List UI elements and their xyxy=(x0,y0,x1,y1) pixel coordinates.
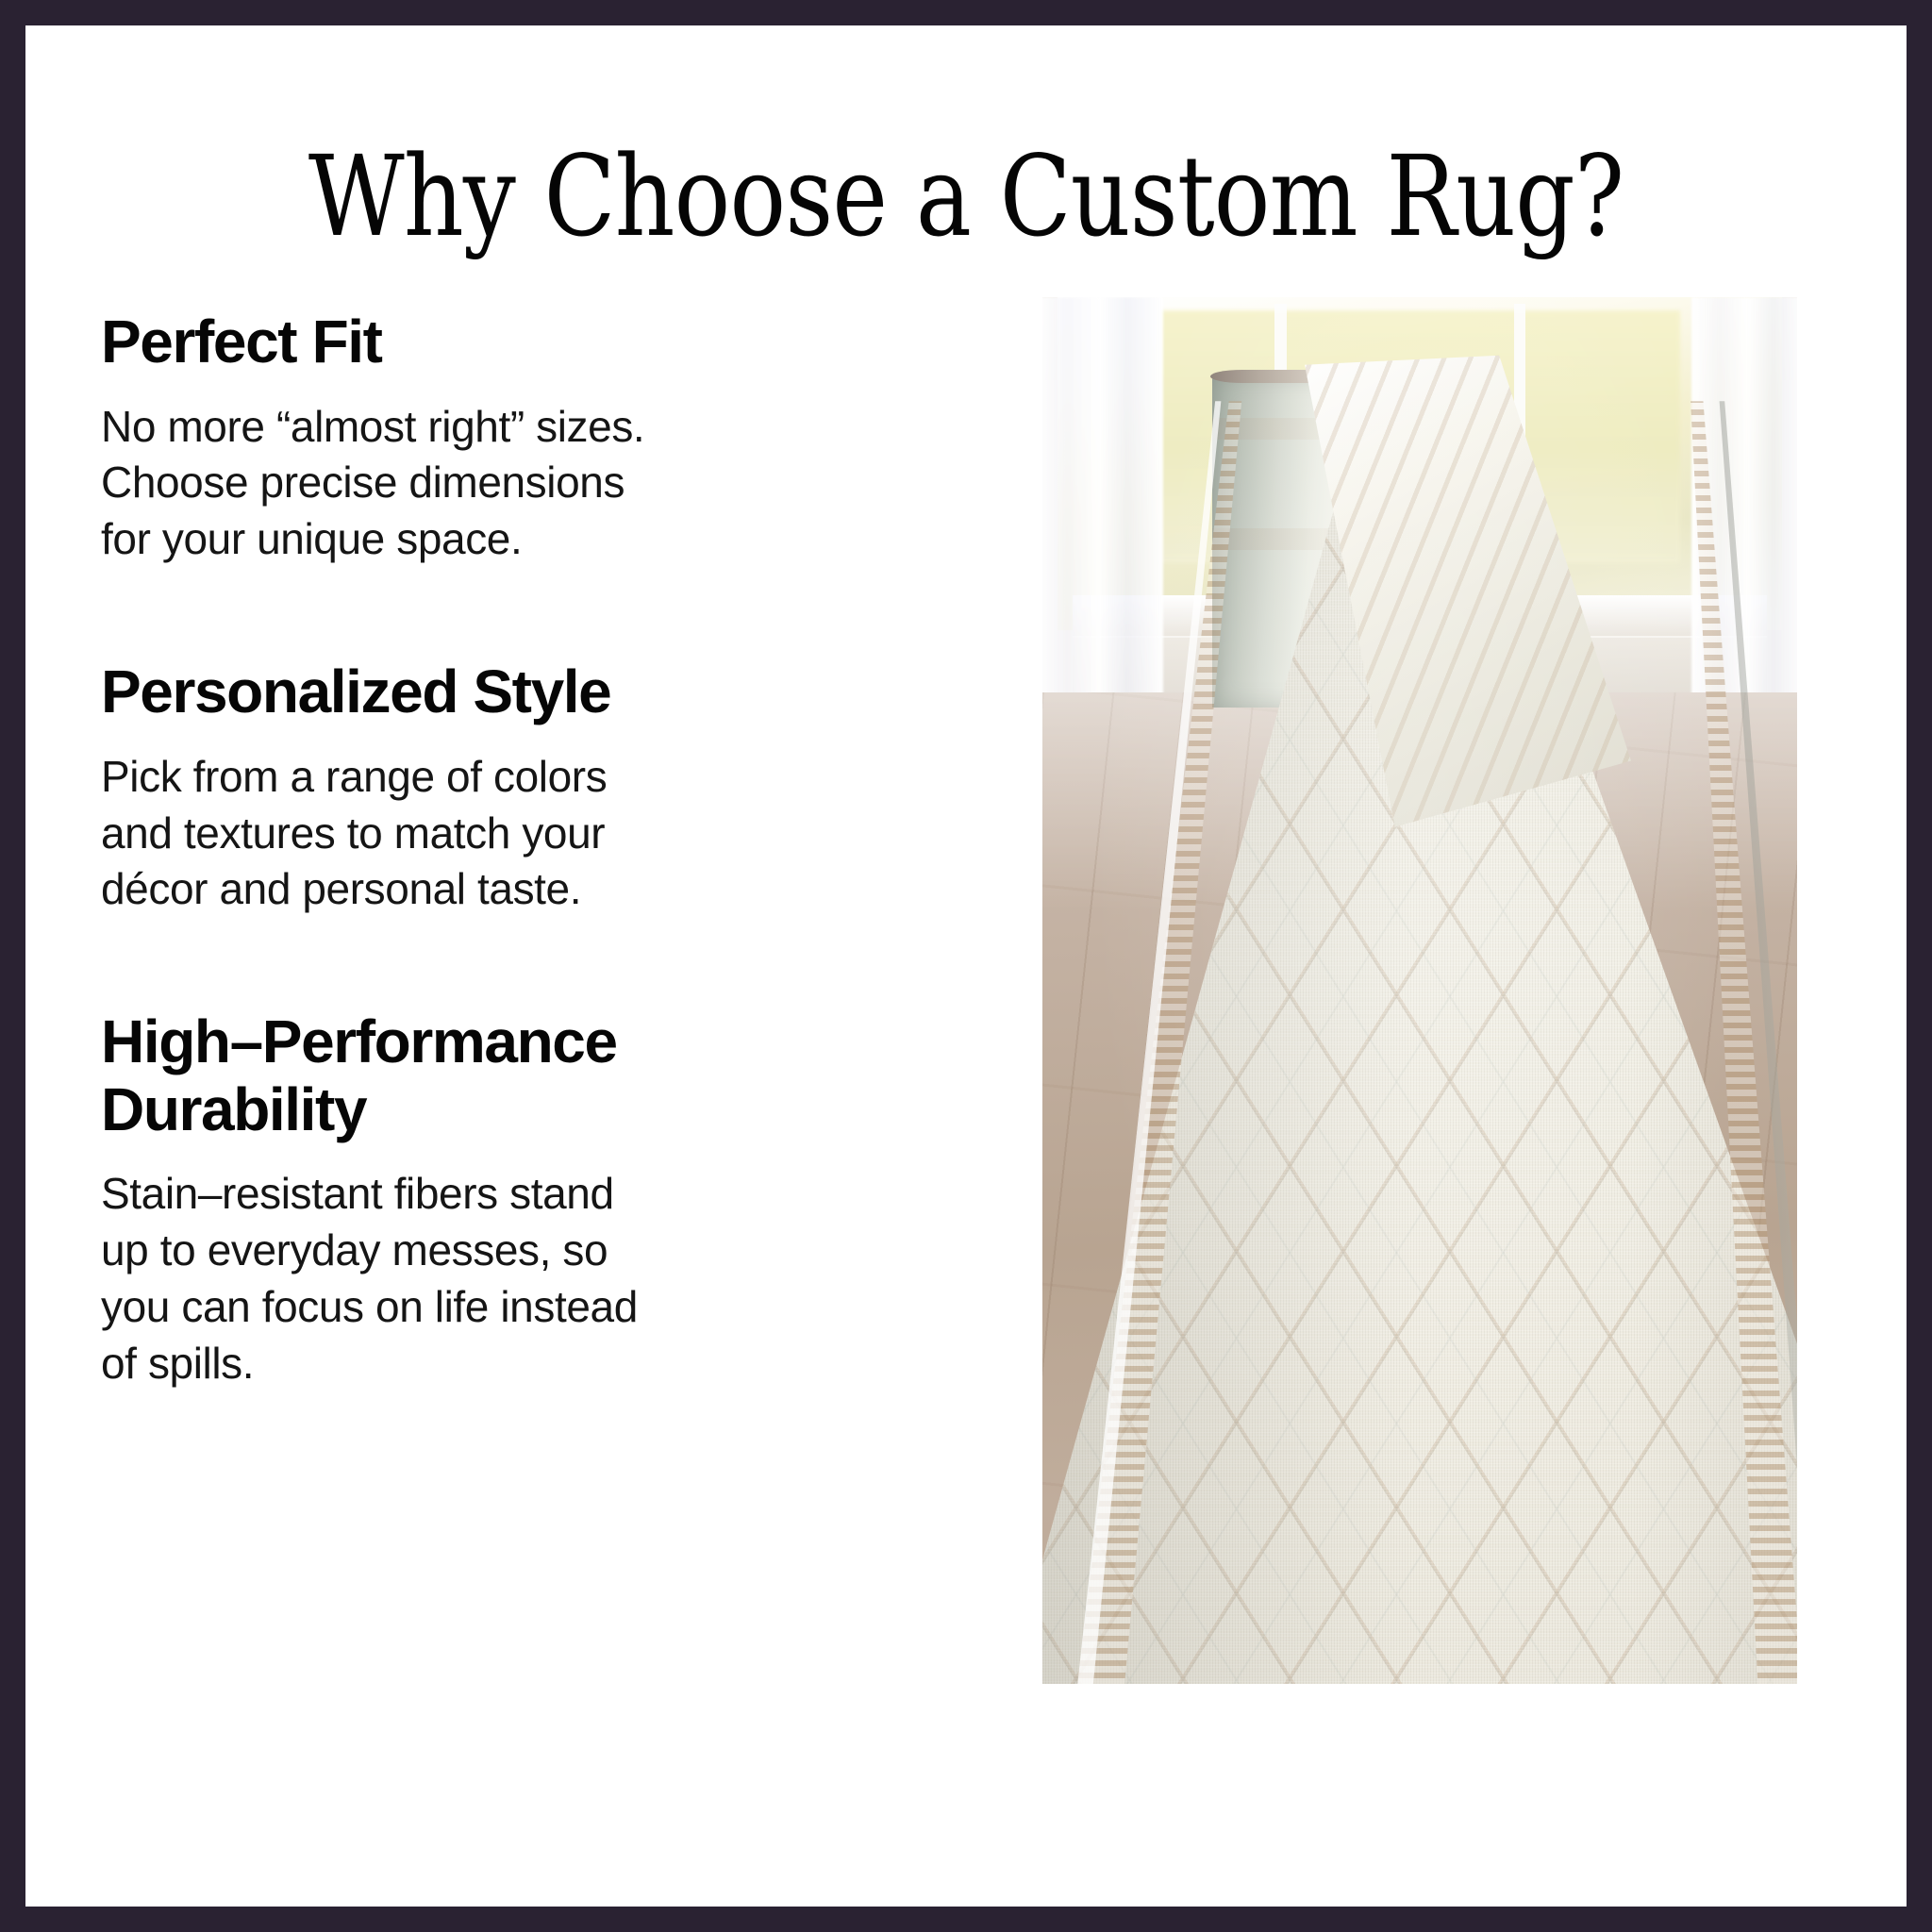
feature-item-perfect-fit: Perfect Fit No more “almost right” sizes… xyxy=(101,308,761,568)
feature-title: Personalized Style xyxy=(101,658,761,726)
feature-item-high-performance-durability: High–Performance Durability Stain–resist… xyxy=(101,1008,761,1392)
feature-item-personalized-style: Personalized Style Pick from a range of … xyxy=(101,658,761,918)
feature-list: Perfect Fit No more “almost right” sizes… xyxy=(101,308,761,1392)
feature-title: Perfect Fit xyxy=(101,308,761,376)
curtain-left xyxy=(1042,297,1163,713)
poster-canvas: Why Choose a Custom Rug? Perfect Fit No … xyxy=(25,25,1907,1907)
feature-body: No more “almost right” sizes. Choose pre… xyxy=(101,399,761,568)
product-photo xyxy=(1042,297,1797,1684)
page-title: Why Choose a Custom Rug? xyxy=(176,141,1757,252)
feature-body: Stain–resistant fibers stand up to every… xyxy=(101,1166,761,1391)
feature-body: Pick from a range of colors and textures… xyxy=(101,749,761,918)
feature-title: High–Performance Durability xyxy=(101,1008,761,1143)
poster-frame: Why Choose a Custom Rug? Perfect Fit No … xyxy=(0,0,1932,1932)
